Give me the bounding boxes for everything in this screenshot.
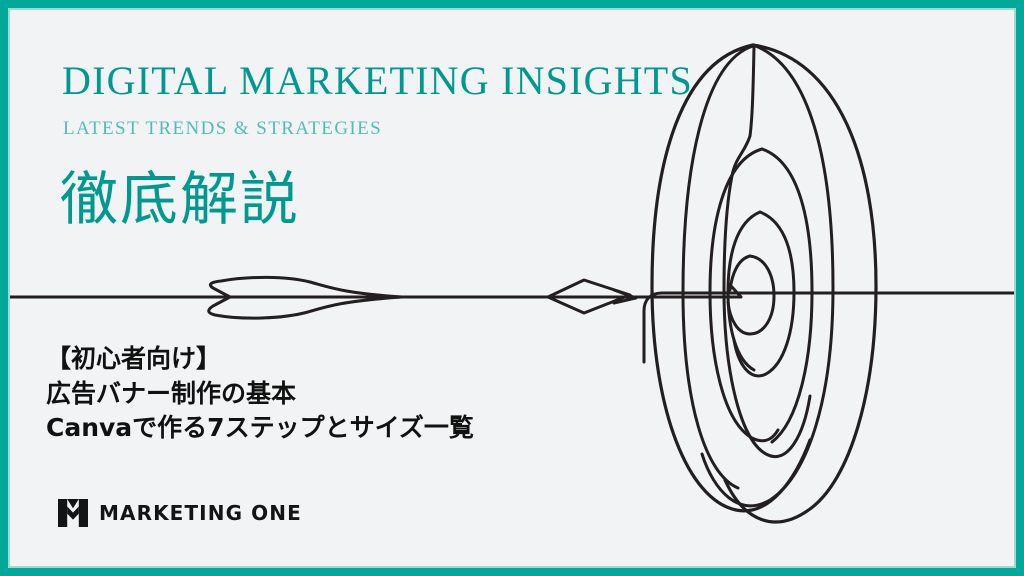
m-monogram-icon — [58, 499, 88, 527]
text-layer: DIGITAL MARKETING INSIGHTS LATEST TRENDS… — [10, 10, 1014, 566]
headline-japanese: 徹底解説 — [60, 167, 300, 232]
brand-wordmark: MARKETING ONE — [99, 503, 302, 523]
slide-canvas: DIGITAL MARKETING INSIGHTS LATEST TRENDS… — [10, 10, 1014, 566]
brand-logo: MARKETING ONE — [58, 499, 302, 527]
subtitle-line-3: Canvaで作る7ステップとサイズ一覧 — [46, 411, 474, 446]
subtitle-line-2: 広告バナー制作の基本 — [46, 377, 474, 412]
page-subtitle: LATEST TRENDS & STRATEGIES — [63, 119, 382, 138]
subtitle-line-1: 【初心者向け】 — [46, 342, 474, 377]
slide-root: DIGITAL MARKETING INSIGHTS LATEST TRENDS… — [0, 0, 1024, 576]
page-title: DIGITAL MARKETING INSIGHTS — [62, 61, 693, 101]
subtitle-block: 【初心者向け】 広告バナー制作の基本 Canvaで作る7ステップとサイズ一覧 — [46, 342, 474, 446]
